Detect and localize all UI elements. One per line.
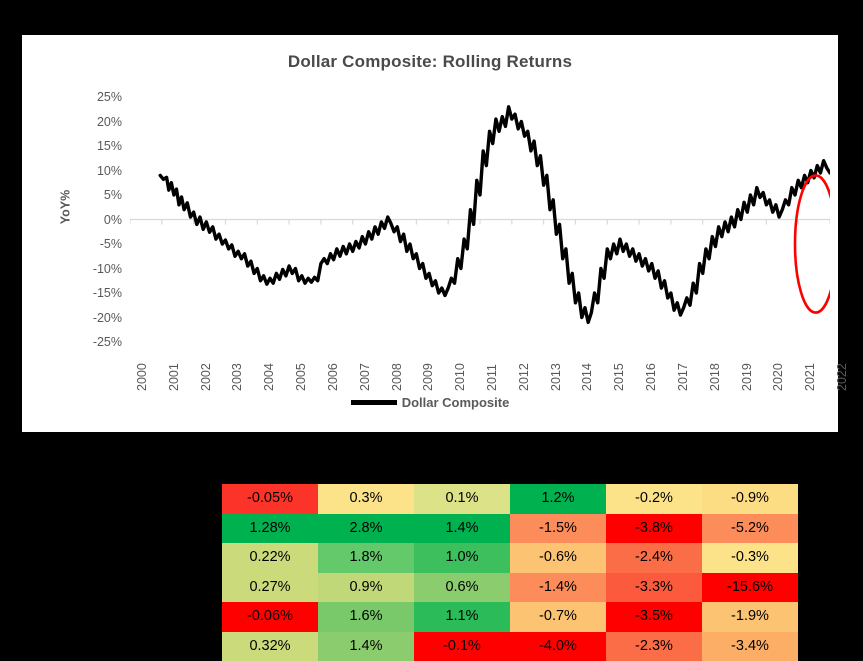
x-tick-label: 2000	[135, 363, 149, 391]
heatmap-cell: -0.06%	[222, 602, 318, 632]
y-tick-label: -25%	[93, 335, 122, 349]
heatmap-cell: 0.3%	[318, 484, 414, 514]
x-tick-label: 2010	[453, 363, 467, 391]
y-tick-label: 25%	[97, 90, 122, 104]
table-row: -0.06%1.6%1.1%-0.7%-3.5%-1.9%	[222, 602, 798, 632]
heatmap-cell: -4.0%	[510, 632, 606, 661]
heatmap-cell: 0.32%	[222, 632, 318, 661]
y-tick-label: 5%	[104, 188, 122, 202]
heatmap-cell: -0.6%	[510, 543, 606, 573]
heatmap-cell: 0.9%	[318, 573, 414, 603]
x-tick-label: 2006	[326, 363, 340, 391]
heatmap-cell: -0.9%	[702, 484, 798, 514]
chart-title: Dollar Composite: Rolling Returns	[22, 52, 838, 72]
table-row: 0.22%1.8%1.0%-0.6%-2.4%-0.3%	[222, 543, 798, 573]
heatmap-cell: 0.6%	[414, 573, 510, 603]
x-tick-label: 2021	[803, 363, 817, 391]
table-row: 0.27%0.9%0.6%-1.4%-3.3%-15.6%	[222, 573, 798, 603]
y-tick-label: 20%	[97, 115, 122, 129]
heatmap-cell: 0.1%	[414, 484, 510, 514]
dollar-composite-line	[160, 107, 830, 323]
y-tick-label: 15%	[97, 139, 122, 153]
x-tick-label: 2003	[230, 363, 244, 391]
plot-area	[130, 97, 830, 342]
heatmap-cell: 1.4%	[414, 514, 510, 544]
highlight-ellipse-annotation	[795, 175, 830, 312]
y-axis-tick-labels: 25%20%15%10%5%0%-5%-10%-15%-20%-25%	[68, 97, 122, 342]
y-tick-label: -5%	[100, 237, 122, 251]
heatmap-cell: 1.2%	[510, 484, 606, 514]
heatmap-cell: 1.1%	[414, 602, 510, 632]
heatmap-cell: -0.05%	[222, 484, 318, 514]
table-row: 1.28%2.8%1.4%-1.5%-3.8%-5.2%	[222, 514, 798, 544]
x-tick-label: 2017	[676, 363, 690, 391]
line-chart-svg	[130, 97, 830, 342]
heatmap-cell: -3.3%	[606, 573, 702, 603]
heatmap-cell: -3.5%	[606, 602, 702, 632]
x-tick-label: 2019	[740, 363, 754, 391]
heatmap-cell: -0.2%	[606, 484, 702, 514]
heatmap-cell: 0.22%	[222, 543, 318, 573]
heatmap-cell: 1.0%	[414, 543, 510, 573]
chart-legend: Dollar Composite	[22, 395, 838, 410]
heatmap-cell: -1.9%	[702, 602, 798, 632]
heatmap-cell: -2.3%	[606, 632, 702, 661]
heatmap-cell: -2.4%	[606, 543, 702, 573]
heatmap-cell: -3.8%	[606, 514, 702, 544]
heatmap-body: -0.05%0.3%0.1%1.2%-0.2%-0.9%1.28%2.8%1.4…	[222, 484, 798, 661]
x-tick-label: 2001	[167, 363, 181, 391]
x-tick-label: 2022	[835, 363, 849, 391]
heatmap-cell: -15.6%	[702, 573, 798, 603]
x-axis-tick-labels: 2000200120022003200420052006200720082009…	[130, 345, 830, 395]
heatmap-cell: -0.7%	[510, 602, 606, 632]
heatmap-cell: -0.1%	[414, 632, 510, 661]
x-tick-label: 2011	[485, 364, 499, 391]
heatmap-cell: -1.4%	[510, 573, 606, 603]
x-tick-label: 2016	[644, 363, 658, 391]
y-tick-label: -20%	[93, 311, 122, 325]
x-tick-label: 2014	[580, 363, 594, 391]
x-tick-label: 2018	[708, 363, 722, 391]
x-tick-label: 2005	[294, 363, 308, 391]
heatmap-cell: 1.4%	[318, 632, 414, 661]
x-tick-label: 2012	[517, 363, 531, 391]
legend-label: Dollar Composite	[402, 395, 510, 410]
y-tick-label: -15%	[93, 286, 122, 300]
heatmap-cell: 0.27%	[222, 573, 318, 603]
x-tick-label: 2013	[549, 363, 563, 391]
returns-heatmap-table: -0.05%0.3%0.1%1.2%-0.2%-0.9%1.28%2.8%1.4…	[222, 484, 798, 661]
x-tick-label: 2009	[421, 363, 435, 391]
legend-line-swatch	[351, 400, 397, 405]
table-row: 0.32%1.4%-0.1%-4.0%-2.3%-3.4%	[222, 632, 798, 661]
x-tick-label: 2007	[358, 363, 372, 391]
x-tick-label: 2002	[199, 363, 213, 391]
heatmap-cell: 1.8%	[318, 543, 414, 573]
x-tick-label: 2015	[612, 363, 626, 391]
heatmap-cell: -5.2%	[702, 514, 798, 544]
y-tick-label: 10%	[97, 164, 122, 178]
chart-panel: Dollar Composite: Rolling Returns YoY% 2…	[22, 35, 838, 432]
heatmap-cell: 1.6%	[318, 602, 414, 632]
y-tick-label: -10%	[93, 262, 122, 276]
table-row: -0.05%0.3%0.1%1.2%-0.2%-0.9%	[222, 484, 798, 514]
y-tick-label: 0%	[104, 213, 122, 227]
heatmap-cell: -3.4%	[702, 632, 798, 661]
x-tick-label: 2020	[771, 363, 785, 391]
heatmap-cell: -1.5%	[510, 514, 606, 544]
heatmap-cell: 1.28%	[222, 514, 318, 544]
heatmap-cell: -0.3%	[702, 543, 798, 573]
x-tick-label: 2004	[262, 363, 276, 391]
heatmap-cell: 2.8%	[318, 514, 414, 544]
x-tick-label: 2008	[390, 363, 404, 391]
